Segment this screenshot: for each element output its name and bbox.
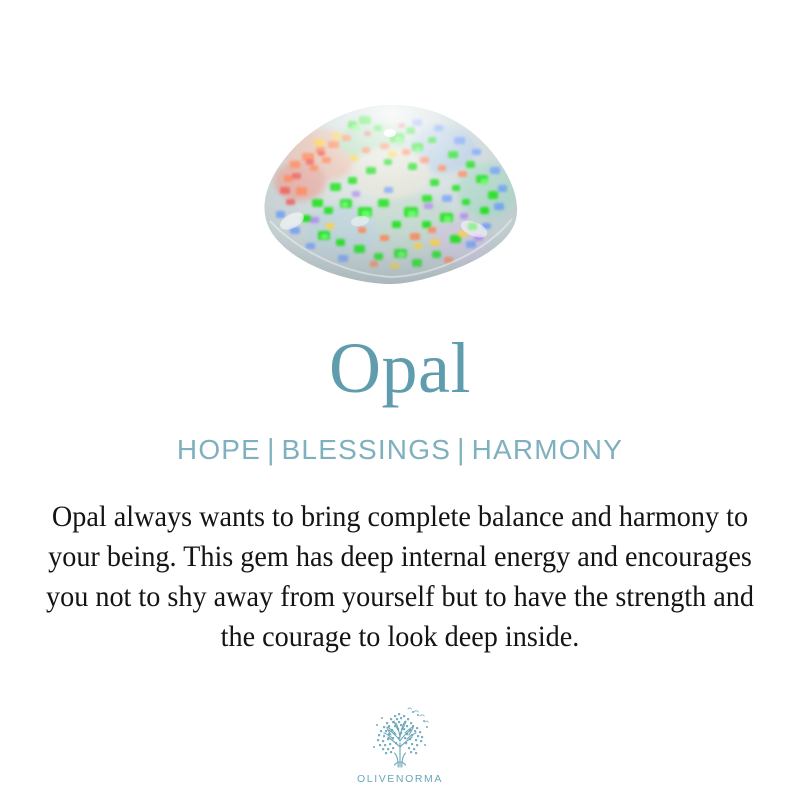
keyword-separator-1: | xyxy=(261,435,281,464)
gem-image-area xyxy=(0,0,800,310)
brand-logo[interactable]: OLIVENORMA xyxy=(357,703,443,785)
page-title: Opal xyxy=(329,332,471,404)
description-text: Opal always wants to bring complete bala… xyxy=(45,497,756,657)
gemstone-info-card: Opal HOPE|BLESSINGS|HARMONY Opal always … xyxy=(0,0,800,800)
keyword-hope: HOPE xyxy=(177,434,261,465)
tree-foliage xyxy=(373,708,428,754)
brand-wordmark: OLIVENORMA xyxy=(357,774,443,785)
opal-body xyxy=(252,93,532,298)
gem-specular-top xyxy=(384,129,396,137)
opal-illustration xyxy=(262,103,522,288)
keyword-separator-2: | xyxy=(451,435,471,464)
keyword-line: HOPE|BLESSINGS|HARMONY xyxy=(177,436,623,464)
keyword-harmony: HARMONY xyxy=(472,434,624,465)
opal-cabochon xyxy=(262,103,522,288)
tree-icon xyxy=(365,703,435,771)
keyword-blessings: BLESSINGS xyxy=(282,434,452,465)
